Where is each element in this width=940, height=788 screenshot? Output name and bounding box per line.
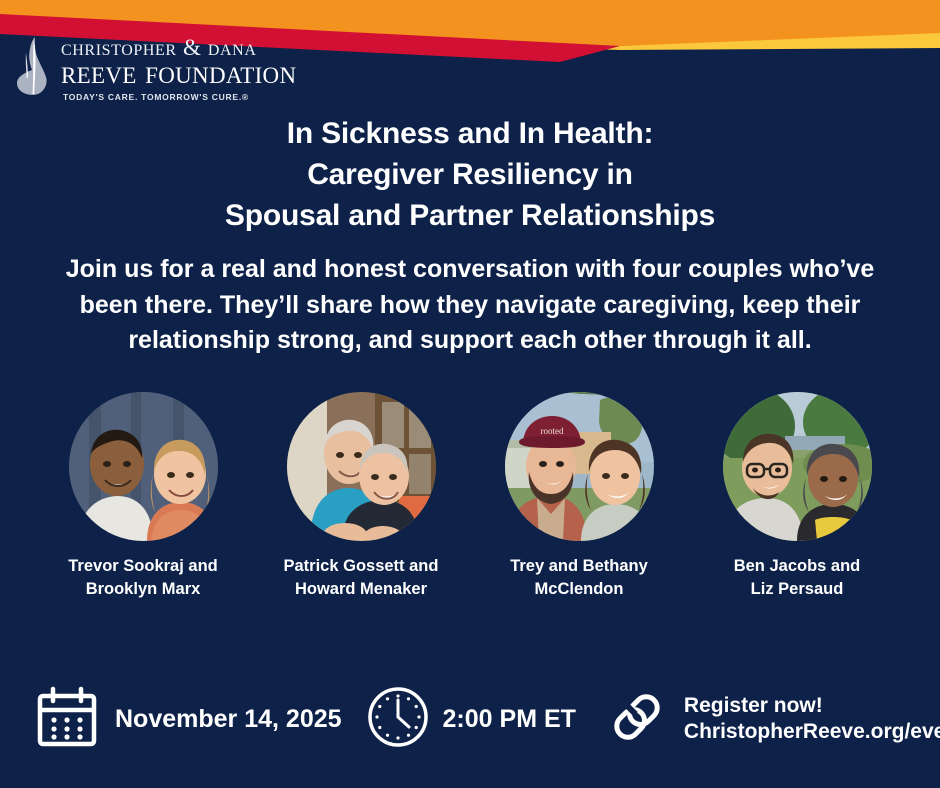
speaker-name: Trevor Sookraj and Brooklyn Marx bbox=[68, 555, 217, 601]
register-url[interactable]: ChristopherReeve.org/events bbox=[684, 719, 940, 745]
event-description: Join us for a real and honest conversati… bbox=[42, 252, 898, 359]
title-line-2: Caregiver Resiliency in bbox=[0, 154, 940, 195]
speaker-photo-patrick-howard bbox=[287, 392, 436, 541]
organization-logo: Christopher & Dana Reeve Foundation TODA… bbox=[14, 36, 296, 104]
register-label: Register now! bbox=[684, 693, 940, 719]
speaker-card: rooted Trey and Bethany McClendon bbox=[489, 392, 669, 601]
speaker-name: Trey and Bethany McClendon bbox=[510, 555, 648, 601]
registration-block[interactable]: Register now! ChristopherReeve.org/event… bbox=[606, 686, 940, 753]
event-time-block: 2:00 PM ET bbox=[367, 686, 576, 753]
speaker-photo-ben-liz bbox=[723, 392, 872, 541]
speaker-name: Ben Jacobs and Liz Persaud bbox=[734, 555, 861, 601]
event-promo-poster: Christopher & Dana Reeve Foundation TODA… bbox=[0, 0, 940, 788]
event-date-block: November 14, 2025 bbox=[36, 686, 342, 753]
clock-icon bbox=[367, 686, 429, 753]
calendar-icon bbox=[36, 686, 98, 753]
event-time-text: 2:00 PM ET bbox=[443, 705, 576, 734]
reeve-flame-icon bbox=[14, 37, 54, 104]
speaker-name: Patrick Gossett and Howard Menaker bbox=[284, 555, 439, 601]
title-line-3: Spousal and Partner Relationships bbox=[0, 195, 940, 236]
logo-tagline: TODAY'S CARE. TOMORROW'S CURE.® bbox=[63, 93, 296, 102]
speaker-card: Patrick Gossett and Howard Menaker bbox=[271, 392, 451, 601]
speaker-card: Trevor Sookraj and Brooklyn Marx bbox=[53, 392, 233, 601]
speaker-photo-trey-bethany: rooted bbox=[505, 392, 654, 541]
svg-text:rooted: rooted bbox=[540, 426, 563, 436]
event-date-text: November 14, 2025 bbox=[115, 705, 342, 734]
event-footer: November 14, 2025 bbox=[0, 676, 940, 762]
speaker-card: Ben Jacobs and Liz Persaud bbox=[707, 392, 887, 601]
logo-line-reeve-foundation: Reeve Foundation bbox=[61, 57, 296, 90]
title-line-1: In Sickness and In Health: bbox=[0, 113, 940, 154]
event-title: In Sickness and In Health: Caregiver Res… bbox=[0, 113, 940, 236]
speaker-photo-trevor-brooklyn bbox=[69, 392, 218, 541]
speakers-row: Trevor Sookraj and Brooklyn Marx bbox=[0, 392, 940, 601]
link-icon bbox=[606, 686, 668, 753]
